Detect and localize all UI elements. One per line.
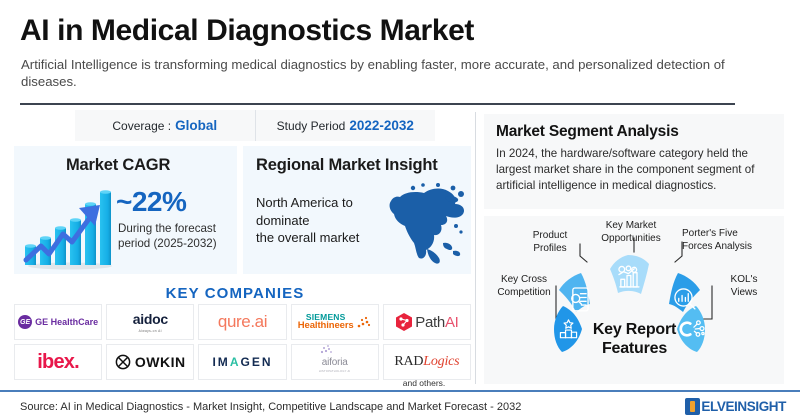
- company-name: aiforia: [322, 357, 348, 368]
- column-divider: [475, 112, 476, 384]
- segment-analysis-body: In 2024, the hardware/software category …: [496, 146, 772, 195]
- label-kols-views: KOL's Views: [716, 274, 772, 299]
- company-name: IMAGEN: [212, 355, 272, 369]
- key-report-features-title: Key Report Features: [562, 320, 707, 358]
- cagr-value: ~22%: [116, 186, 186, 218]
- delveinsight-wordmark: ELVEINSIGHT: [701, 399, 786, 414]
- company-logo-qure-ai: qure.ai: [198, 304, 286, 340]
- market-cagr-heading: Market CAGR: [66, 156, 170, 175]
- page-subtitle: Artificial Intelligence is transforming …: [21, 56, 733, 90]
- company-name: aidoc: [133, 311, 168, 327]
- company-logo-owkin: OWKIN: [106, 344, 194, 380]
- petal-product-profiles: [559, 273, 590, 312]
- delveinsight-mark-icon: [685, 398, 700, 415]
- regional-heading: Regional Market Insight: [256, 156, 438, 175]
- key-companies-title: KEY COMPANIES: [0, 285, 470, 302]
- delveinsight-logo: ELVEINSIGHT: [685, 398, 786, 415]
- siemens-dots-icon: [356, 315, 372, 329]
- company-name: ibex.: [37, 351, 79, 374]
- label-product-profiles: Product Profiles: [520, 230, 580, 255]
- segment-analysis-heading: Market Segment Analysis: [496, 123, 772, 141]
- company-logo-radlogics: RADLogics: [383, 344, 471, 380]
- company-tagline: Always-on AI: [133, 329, 168, 333]
- key-companies-footnote: and others.: [378, 378, 470, 388]
- label-porters-five-forces: Porter's Five Forces Analysis: [682, 228, 774, 253]
- study-period-label: Study Period: [277, 119, 346, 133]
- infographic-page: AI in Medical Diagnostics Market Artific…: [0, 0, 800, 420]
- page-title: AI in Medical Diagnostics Market: [20, 14, 474, 48]
- key-report-features-panel: Key Report Features Product Profiles Key…: [484, 216, 784, 384]
- growth-bar-chart-icon: [22, 184, 118, 270]
- company-name-secondary: Healthineers: [298, 321, 354, 331]
- coverage-label: Coverage :: [112, 119, 171, 133]
- key-companies-grid: GE GE HealthCare aidoc Always-on AI qure…: [14, 304, 471, 380]
- coverage-value: Global: [175, 118, 217, 133]
- study-period-cell: Study Period 2022-2032: [255, 110, 436, 141]
- ge-monogram-icon: GE: [18, 315, 32, 329]
- label-key-market-opportunities: Key Market Opportunities: [588, 220, 674, 245]
- company-name: OWKIN: [135, 354, 186, 370]
- petal-key-market-opportunities: [610, 255, 649, 294]
- north-america-map-icon: [383, 180, 469, 268]
- company-name: GE HealthCare: [35, 318, 98, 327]
- cagr-note: During the forecast period (2025-2032): [118, 222, 230, 251]
- company-logo-siemens-healthineers: SIEMENS Healthineers: [291, 304, 379, 340]
- coverage-cell: Coverage : Global: [75, 110, 255, 141]
- company-name: RADLogics: [394, 354, 459, 370]
- company-logo-ge-healthcare: GE GE HealthCare: [14, 304, 102, 340]
- pathai-hexagon-icon: [395, 313, 413, 331]
- company-logo-aidoc: aidoc Always-on AI: [106, 304, 194, 340]
- coverage-strip: Coverage : Global Study Period 2022-2032: [75, 110, 435, 141]
- company-logo-imagen: IMAGEN: [198, 344, 286, 380]
- regional-text: North America to dominate the overall ma…: [256, 194, 391, 247]
- study-period-value: 2022-2032: [349, 118, 414, 133]
- company-logo-pathai: PathAI: [383, 304, 471, 340]
- market-segment-analysis-panel: Market Segment Analysis In 2024, the har…: [484, 114, 784, 209]
- owkin-mark-icon: [115, 354, 131, 370]
- company-name: qure.ai: [218, 312, 267, 332]
- company-tagline: HISTOPATHOLOGY AI: [319, 370, 351, 373]
- company-logo-aiforia: aiforia HISTOPATHOLOGY AI: [291, 344, 379, 380]
- company-logo-ibex: ibex.: [14, 344, 102, 380]
- label-key-cross-competition: Key Cross Competition: [486, 274, 562, 299]
- footer-divider: [0, 390, 800, 392]
- company-name: PathAI: [415, 314, 458, 331]
- market-cagr-card: Market CAGR ~22% During: [14, 146, 237, 274]
- aiforia-dots-icon: [318, 344, 334, 355]
- regional-market-insight-card: Regional Market Insight North America to…: [243, 146, 471, 274]
- source-text: Source: AI in Medical Diagnostics - Mark…: [20, 401, 521, 413]
- header-divider: [20, 103, 735, 105]
